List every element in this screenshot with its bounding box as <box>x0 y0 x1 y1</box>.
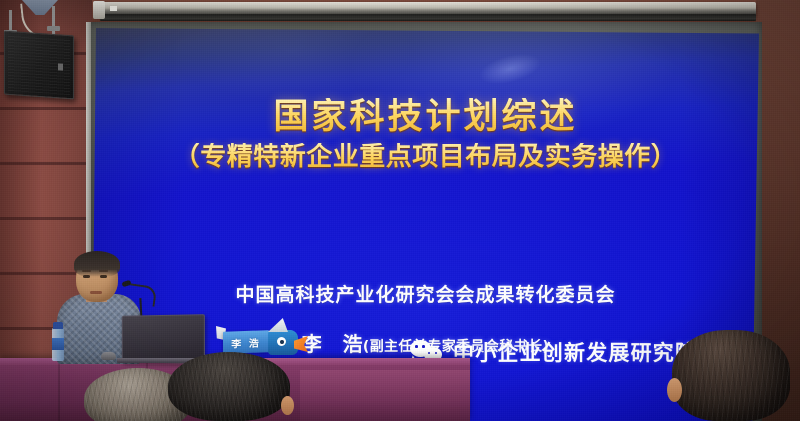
audience-ear <box>281 396 294 415</box>
slide-presenter-name: 李 浩 <box>302 332 363 356</box>
presenter-eye <box>83 275 90 278</box>
mouse-icon <box>101 352 116 360</box>
laptop-icon <box>122 314 205 364</box>
screen-roller-bar <box>100 14 756 21</box>
speaker-mount-head <box>47 26 60 31</box>
slide-organization: 中国高科技产业化研究会会成果转化委员会 <box>92 280 759 307</box>
loudspeaker-icon <box>4 31 74 100</box>
slide-subtitle: （专精特新企业重点项目布局及实务操作） <box>92 143 759 173</box>
audience-ear <box>667 378 682 402</box>
presenter-eye <box>100 275 107 278</box>
slide-main-title: 国家科技计划综述 <box>92 98 759 137</box>
tablecloth-fold <box>58 362 60 421</box>
speaker-mount-bracket <box>52 6 55 36</box>
audience-hair-texture <box>672 330 790 421</box>
watermark-label: 中小企业创新发展研究院 <box>453 337 697 367</box>
slide-lens-flare <box>477 48 543 88</box>
name-placard: 李 浩 <box>223 330 269 354</box>
screen-roller-clip <box>110 6 117 11</box>
presenter-hair <box>74 251 120 277</box>
presenter-mouth <box>90 291 102 294</box>
wechat-bubble-dot <box>422 345 425 348</box>
wechat-bubble-dot <box>415 345 418 348</box>
audience-hair-texture <box>168 352 290 421</box>
water-bottle-cap <box>53 322 63 329</box>
slide-title-block: 国家科技计划综述 （专精特新企业重点项目布局及实务操作） <box>92 98 759 173</box>
water-bottle-label <box>52 338 64 350</box>
presentation-photo: 国家科技计划综述 （专精特新企业重点项目布局及实务操作） 中国高科技产业化研究会… <box>0 0 800 421</box>
speaker-badge <box>58 63 63 70</box>
presenter-eyebrow <box>99 270 108 272</box>
screen-roller-end-cap <box>93 1 105 19</box>
name-placard-label: 李 浩 <box>231 334 260 350</box>
presenter-eyebrow <box>82 270 91 272</box>
table-right-section <box>300 370 470 421</box>
mascot-pupil <box>280 340 284 344</box>
